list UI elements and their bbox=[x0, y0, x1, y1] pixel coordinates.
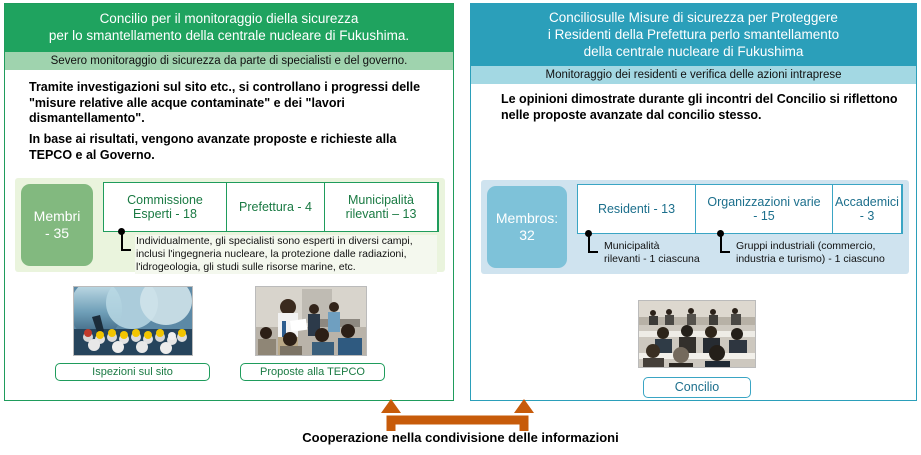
tepco-proposal-photo bbox=[255, 286, 367, 356]
tepco-proposal-caption: Proposte alla TEPCO bbox=[240, 363, 385, 381]
right-cell-2-line2: - 3 bbox=[835, 209, 899, 224]
left-panel-title-line1: Concilio per il monitoraggio diella sicu… bbox=[11, 10, 447, 27]
right-members-footnote-b: Gruppi industriali (commercio, industria… bbox=[735, 240, 912, 266]
right-panel-title-line2: i Residenti della Prefettura perlo smant… bbox=[477, 26, 910, 43]
left-panel-subbar: Severo monitoraggio di sicurezza da part… bbox=[5, 52, 453, 70]
left-cell-2-line2: rilevanti – 13 bbox=[346, 207, 417, 222]
council-meeting-caption: Concilio bbox=[643, 377, 751, 398]
left-cell-1-line1: Prefettura - 4 bbox=[239, 200, 312, 215]
right-members-footnote-a: Municipalità rilevanti - 1 ciascuna bbox=[603, 240, 725, 266]
left-panel-title-line2: per lo smantellamento della centrale nuc… bbox=[11, 27, 447, 44]
right-members-count-line2: 32 bbox=[519, 227, 535, 244]
left-panel-header: Concilio per il monitoraggio diella sicu… bbox=[5, 4, 453, 52]
right-panel-header: Conciliosulle Misure di sicurezza per Pr… bbox=[471, 4, 916, 66]
right-cell-0-line1: Residenti - 13 bbox=[598, 202, 675, 217]
left-cell-0-line1: Commissione bbox=[127, 193, 203, 208]
council-meeting-photo-graphic bbox=[639, 301, 755, 367]
leader-vertical-line bbox=[588, 235, 590, 252]
right-paragraph-1: Le opinioni dimostrate durante gli incon… bbox=[501, 92, 901, 123]
right-panel-residents-council: Conciliosulle Misure di sicurezza per Pr… bbox=[470, 3, 917, 401]
left-members-count-line2: - 35 bbox=[45, 225, 69, 242]
right-footnote-a-line2: rilevanti - 1 ciascuna bbox=[604, 253, 724, 266]
left-paragraph-1: Tramite investigazioni sul sito etc., si… bbox=[29, 80, 441, 127]
left-members-count-line1: Membri bbox=[34, 208, 81, 225]
right-members-cell-organizzazioni: Organizzazioni varie - 15 bbox=[696, 185, 833, 233]
right-members-cell-accademici: Accademici - 3 bbox=[833, 185, 902, 233]
right-panel-title-line1: Conciliosulle Misure di sicurezza per Pr… bbox=[477, 9, 910, 26]
left-panel-monitoring-council: Concilio per il monitoraggio diella sicu… bbox=[4, 3, 454, 401]
tepco-proposal-photo-graphic bbox=[256, 287, 366, 355]
left-members-band: Membri - 35 Commissione Esperti - 18 Pre… bbox=[15, 178, 445, 272]
left-members-count-chip: Membri - 35 bbox=[21, 184, 93, 266]
cooperation-arrow-icon bbox=[375, 398, 540, 431]
right-members-band: Membros: 32 Residenti - 13 Organizzazion… bbox=[481, 180, 909, 274]
right-panel-title-line3: della centrale nucleare di Fukushima bbox=[477, 43, 910, 60]
site-inspection-photo-graphic bbox=[74, 287, 192, 355]
left-members-cell-prefettura: Prefettura - 4 bbox=[227, 183, 325, 231]
leader-horizontal-line bbox=[720, 251, 730, 253]
right-members-cell-residenti: Residenti - 13 bbox=[578, 185, 696, 233]
right-cell-1-line1: Organizzazioni varie bbox=[707, 195, 820, 210]
council-meeting-photo bbox=[638, 300, 756, 368]
site-inspection-photo bbox=[73, 286, 193, 356]
leader-horizontal-line bbox=[121, 249, 131, 251]
left-footnote-line2: inclusi l'ingegneria nucleare, la protez… bbox=[136, 248, 436, 261]
left-cell-0-line2: Esperti - 18 bbox=[127, 207, 203, 222]
leader-horizontal-line bbox=[588, 251, 598, 253]
right-members-count-chip: Membros: 32 bbox=[487, 186, 567, 268]
leader-vertical-line bbox=[720, 235, 722, 252]
right-cell-2-line1: Accademici bbox=[835, 195, 899, 210]
left-footnote-line1: Individualmente, gli specialisti sono es… bbox=[136, 235, 436, 248]
right-footnote-a-line1: Municipalità bbox=[604, 240, 724, 253]
right-footnote-b-line1: Gruppi industriali (commercio, bbox=[736, 240, 911, 253]
site-inspection-caption: Ispezioni sul sito bbox=[55, 363, 210, 381]
right-members-table: Residenti - 13 Organizzazioni varie - 15… bbox=[577, 184, 903, 234]
left-paragraph-2: In base ai risultati, vengono avanzate p… bbox=[29, 132, 441, 163]
right-panel-subbar: Monitoraggio dei residenti e verifica de… bbox=[471, 66, 916, 84]
left-members-table: Commissione Esperti - 18 Prefettura - 4 … bbox=[103, 182, 439, 232]
left-members-cell-commissione-esperti: Commissione Esperti - 18 bbox=[104, 183, 227, 231]
leader-vertical-line bbox=[121, 233, 123, 250]
left-members-footnote: Individualmente, gli specialisti sono es… bbox=[135, 235, 437, 274]
left-members-cell-municipalita: Municipalità rilevanti – 13 bbox=[325, 183, 438, 231]
cooperation-label: Cooperazione nella condivisione delle in… bbox=[0, 430, 921, 445]
left-footnote-line3: l'idrogeologia, gli studi sulle risorse … bbox=[136, 261, 436, 274]
right-cell-1-line2: - 15 bbox=[707, 209, 820, 224]
right-footnote-b-line2: industria e turismo) - 1 ciascuno bbox=[736, 253, 911, 266]
left-cell-2-line1: Municipalità bbox=[346, 193, 417, 208]
right-members-count-line1: Membros: bbox=[496, 210, 558, 227]
